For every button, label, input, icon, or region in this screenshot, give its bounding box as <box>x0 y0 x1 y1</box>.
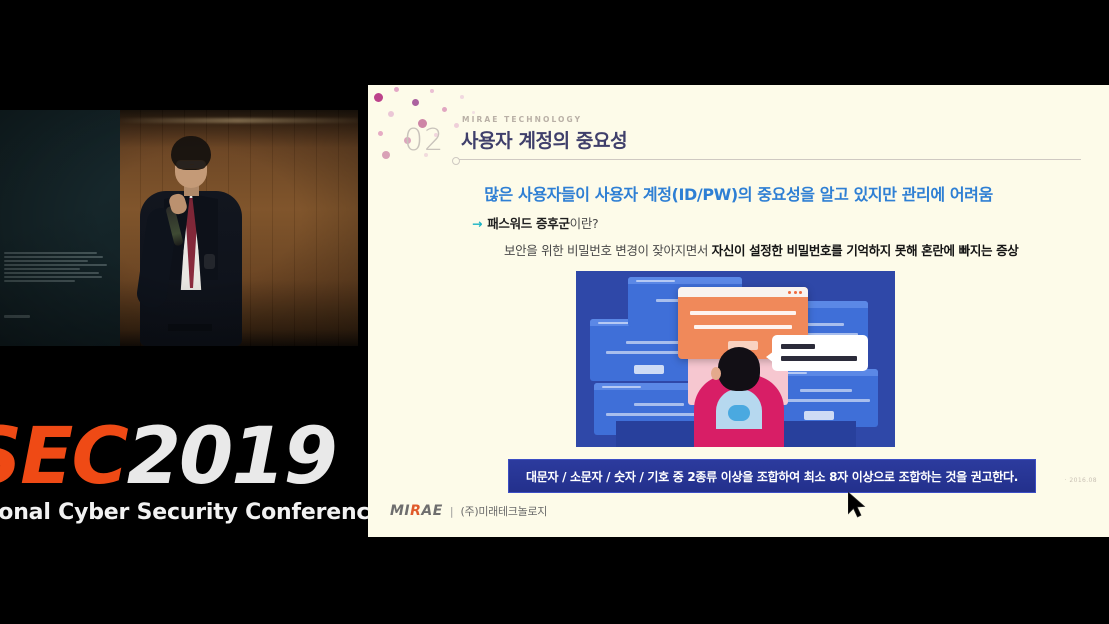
presentation-clicker <box>204 254 215 269</box>
stage-light-strip <box>118 118 358 123</box>
bullet-heading: →패스워드 증후군이란? <box>472 213 598 232</box>
description-prefix: 보안을 위한 비밀번호 변경이 잦아지면서 <box>504 243 712 258</box>
header-divider <box>456 159 1081 160</box>
logo-divider: | <box>450 505 454 518</box>
screen: SEC2019 ational Cyber Security Conferenc… <box>0 0 1109 624</box>
bullet-term-suffix: 이란? <box>570 216 599 231</box>
slide-footer-logo: MIRAE | (주)미래테크놀로지 <box>390 503 547 519</box>
panel-text-lines <box>4 252 112 282</box>
company-name: (주)미래테크놀로지 <box>461 503 548 519</box>
logo-r: R <box>410 503 421 519</box>
speaker-figure <box>128 136 254 346</box>
speaker-belt <box>168 324 212 331</box>
logo-tagline: ational Cyber Security Conference <box>0 500 384 525</box>
password-recommendation-bar: 대문자 / 소문자 / 숫자 / 기호 중 2종류 이상을 조합하여 최소 8자… <box>508 459 1036 493</box>
speaker-glasses <box>176 160 206 169</box>
speaker-video-feed <box>0 110 358 346</box>
bullet-description: 보안을 위한 비밀번호 변경이 잦아지면서 자신이 설정한 비밀번호를 기억하지… <box>504 240 1018 259</box>
logo-mi: MI <box>390 503 410 519</box>
person-head <box>718 347 760 391</box>
conference-logo: SEC2019 ational Cyber Security Conferenc… <box>0 418 340 528</box>
slide-date-mark: · 2016.08 <box>1065 477 1097 484</box>
person-ear <box>711 367 721 380</box>
mirae-logo: MIRAE <box>390 503 443 519</box>
arrow-bullet-icon: → <box>472 216 482 231</box>
recommendation-text: 대문자 / 소문자 / 숫자 / 기호 중 2종류 이상을 조합하여 최소 8자… <box>526 468 1018 485</box>
slide-eyebrow: MIRAE TECHNOLOGY <box>462 115 582 124</box>
description-emphasis: 자신이 설정한 비밀번호를 기억하지 못해 혼란에 빠지는 증상 <box>712 243 1019 258</box>
logo-year: 2019 <box>127 412 336 502</box>
chair-detail <box>728 405 750 421</box>
panel-footer-line <box>4 315 30 318</box>
logo-name: SEC <box>0 412 127 502</box>
password-fatigue-illustration <box>576 271 895 447</box>
mouse-pointer-icon <box>848 492 868 522</box>
section-number: 02 <box>404 123 444 158</box>
slide-lead-statement: 많은 사용자들이 사용자 계정(ID/PW)의 중요성을 알고 있지만 관리에 … <box>368 181 1109 205</box>
logo-ae: AE <box>421 503 442 519</box>
logo-wordmark: SEC2019 <box>0 418 336 496</box>
speech-bubble <box>772 335 868 371</box>
slide-title: 사용자 계정의 중요성 <box>461 126 627 153</box>
stage-side-panel <box>0 110 120 346</box>
presentation-slide: 02 MIRAE TECHNOLOGY 사용자 계정의 중요성 많은 사용자들이… <box>368 85 1109 537</box>
bullet-term: 패스워드 증후군 <box>487 216 569 231</box>
